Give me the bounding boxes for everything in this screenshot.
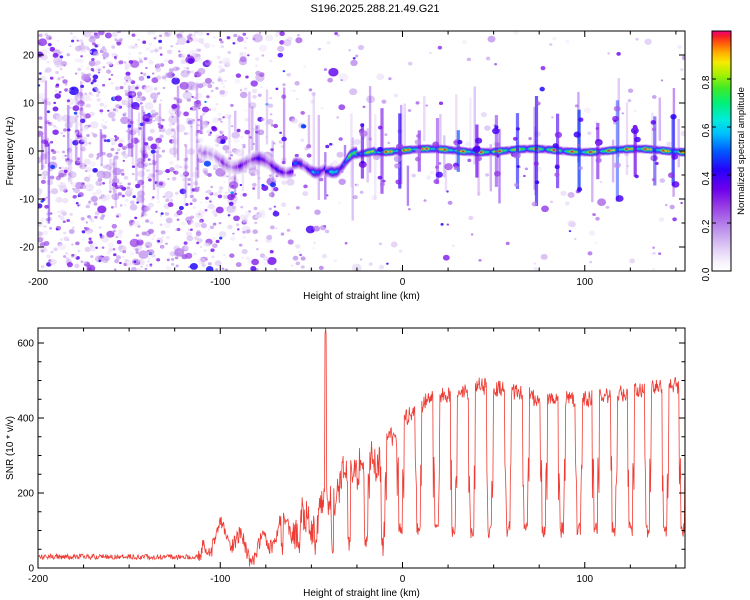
colorbar-tick-label: 0.0 — [701, 267, 712, 281]
spectrogram-ytick-label: 0 — [28, 147, 34, 158]
snr-ytick-label: 0 — [28, 564, 34, 575]
spectrogram-panel: -200-1000100-20-1001020Height of straigh… — [5, 29, 747, 599]
spectrogram-xtick-label: -200 — [28, 277, 48, 288]
spectrogram-xtick-label: -100 — [210, 277, 230, 288]
snr-xtick-label: 0 — [400, 574, 406, 585]
snr-plot-background — [38, 328, 685, 568]
spectrogram-ytick-label: 20 — [23, 51, 35, 62]
snr-yaxis-label: SNR (10 * v/v) — [5, 416, 16, 480]
spectrogram-yaxis-label: Frequency (Hz) — [5, 117, 16, 186]
spectrogram-ytick-label: -20 — [20, 243, 35, 254]
colorbar-gradient — [712, 31, 731, 271]
spectrogram-ytick-label: -10 — [20, 195, 35, 206]
spectrogram-xtick-label: 100 — [576, 277, 593, 288]
colorbar-tick-label: 0.2 — [701, 219, 712, 233]
spectrogram-xtick-label: 0 — [400, 277, 406, 288]
colorbar-label: Normalized spectral amplitude — [736, 87, 747, 215]
snr-xtick-label: 100 — [576, 574, 593, 585]
snr-xtick-label: -200 — [28, 574, 48, 585]
snr-panel: -200-10001000200400600Height of straight… — [5, 328, 685, 599]
colorbar-tick-label: 0.4 — [701, 171, 712, 185]
snr-ytick-label: 400 — [17, 414, 34, 425]
snr-xtick-label: -100 — [210, 574, 230, 585]
page-title: S196.2025.288.21.49.G21 — [0, 3, 750, 15]
figure-svg: -200-1000100-20-1001020Height of straigh… — [0, 0, 750, 600]
colorbar-tick-label: 0.6 — [701, 123, 712, 137]
snr-ytick-label: 200 — [17, 489, 34, 500]
spectrogram-ytick-label: 10 — [23, 99, 35, 110]
snr-ytick-label: 600 — [17, 339, 34, 350]
spectrogram-xaxis-label: Height of straight line (km) — [303, 291, 420, 302]
colorbar-tick-label: 0.8 — [701, 75, 712, 89]
figure-canvas: S196.2025.288.21.49.G21 -200-1000100-20-… — [0, 0, 750, 600]
snr-xaxis-label: Height of straight line (km) — [303, 588, 420, 599]
